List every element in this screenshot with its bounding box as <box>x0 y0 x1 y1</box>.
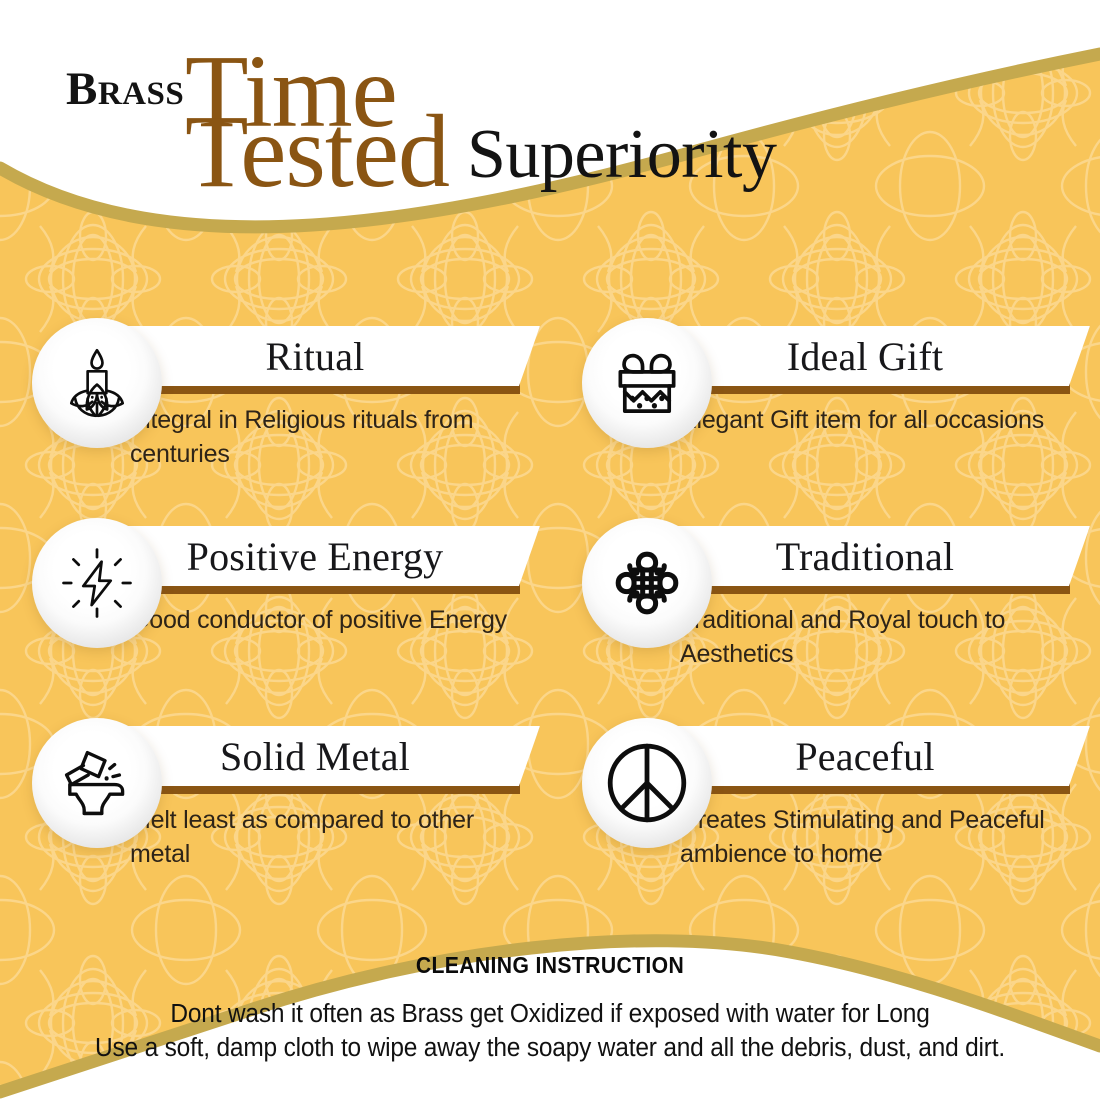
feature-description: Integral in Religious rituals from centu… <box>130 404 530 471</box>
feature-banner: Positive Energy <box>120 526 540 588</box>
feature-banner: Peaceful <box>670 726 1090 788</box>
candle-lotus-icon <box>32 318 162 448</box>
cleaning-instruction-heading: CLEANING INSTRUCTION <box>44 952 1056 979</box>
hammer-anvil-icon <box>32 718 162 848</box>
endless-knot-icon <box>582 518 712 648</box>
feature-description: Elegant Gift item for all occasions <box>680 404 1080 438</box>
feature-card-traditional[interactable]: Traditional <box>582 518 1092 718</box>
feature-title: Ideal Gift <box>670 326 1060 386</box>
cleaning-instruction-body: Dont wash it often as Brass get Oxidized… <box>22 997 1078 1065</box>
peace-symbol-icon <box>582 718 712 848</box>
feature-title: Positive Energy <box>120 526 510 586</box>
cleaning-instruction-block: CLEANING INSTRUCTION Dont wash it often … <box>0 952 1100 1065</box>
feature-title: Peaceful <box>670 726 1060 786</box>
feature-title: Solid Metal <box>120 726 510 786</box>
feature-card-ritual[interactable]: Ritual Integral in Religious rituals fro… <box>32 318 542 518</box>
lightning-bolt-icon <box>32 518 162 648</box>
feature-banner: Ideal Gift <box>670 326 1090 388</box>
feature-card-positive-energy[interactable]: Positive Energy Good conductor of positi… <box>32 518 542 718</box>
gift-box-icon <box>582 318 712 448</box>
infographic-canvas: Brass Time Tested Superiority Ritual <box>0 0 1100 1100</box>
feature-description: Creates Stimulating and Peaceful ambienc… <box>680 804 1080 871</box>
feature-description: Melt least as compared to other metal <box>130 804 530 871</box>
feature-card-solid-metal[interactable]: Solid Metal Melt least as compared <box>32 718 542 918</box>
feature-title: Ritual <box>120 326 510 386</box>
cleaning-instruction-line-2: Use a soft, damp cloth to wipe away the … <box>22 1031 1078 1065</box>
feature-banner: Traditional <box>670 526 1090 588</box>
feature-description: Good conductor of positive Energy <box>130 604 530 638</box>
feature-banner: Solid Metal <box>120 726 540 788</box>
feature-banner: Ritual <box>120 326 540 388</box>
feature-title: Traditional <box>670 526 1060 586</box>
feature-card-peaceful[interactable]: Peaceful Creates Stimulating and Peacefu… <box>582 718 1092 918</box>
feature-grid: Ritual Integral in Religious rituals fro… <box>0 0 1100 1100</box>
feature-card-ideal-gift[interactable]: Ideal Gift Elegant Gift item for all occ… <box>582 318 1092 518</box>
cleaning-instruction-line-1: Dont wash it often as Brass get Oxidized… <box>22 997 1078 1031</box>
feature-description: Traditional and Royal touch to Aesthetic… <box>680 604 1080 671</box>
